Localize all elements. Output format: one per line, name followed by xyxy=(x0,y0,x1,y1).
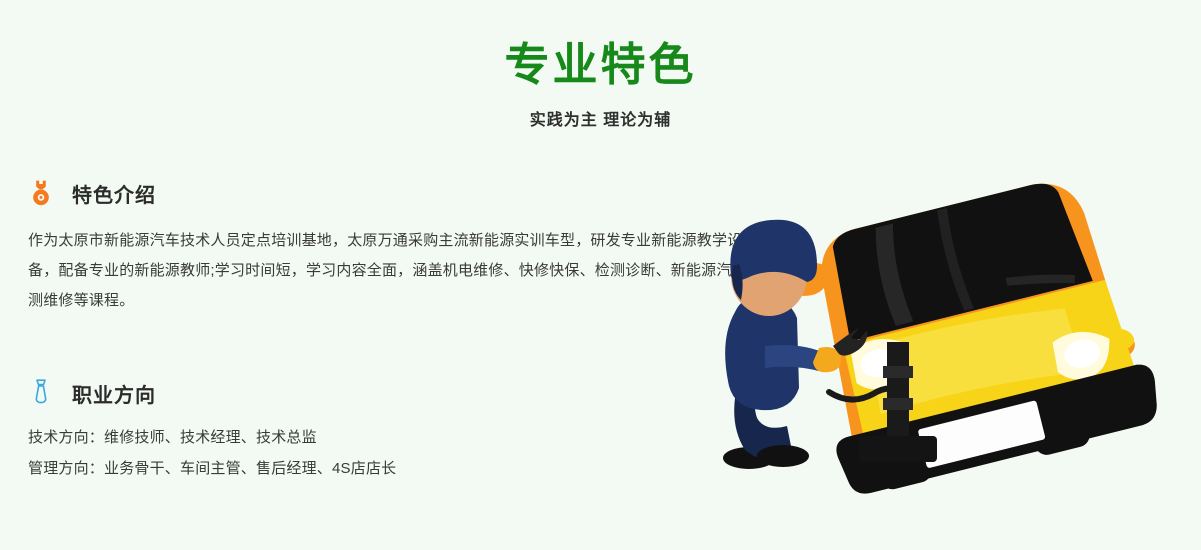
mechanic-repairing-car-illustration xyxy=(721,160,1201,500)
feature-intro-paragraph: 作为太原市新能源汽车技术人员定点培训基地，太原万通采购主流新能源实训车型，研发专… xyxy=(28,226,768,316)
career-line-technical: 技术方向：维修技师、技术经理、技术总监 xyxy=(28,422,768,453)
content-column: 特色介绍 作为太原市新能源汽车技术人员定点培训基地，太原万通采购主流新能源实训车… xyxy=(28,178,768,484)
section-feature-intro-title: 特色介绍 xyxy=(72,179,156,208)
medal-icon xyxy=(28,178,54,208)
mechanic-shoe-front xyxy=(757,445,809,467)
necktie-icon xyxy=(28,378,54,408)
page-root: 专业特色 实践为主 理论为辅 特色介绍 作为太原市新能源汽车技术人员定点培训基地… xyxy=(0,0,1201,550)
section-feature-intro-header: 特色介绍 xyxy=(28,178,768,208)
section-feature-intro-body: 作为太原市新能源汽车技术人员定点培训基地，太原万通采购主流新能源实训车型，研发专… xyxy=(28,226,768,316)
section-career-direction: 职业方向 技术方向：维修技师、技术经理、技术总监 管理方向：业务骨干、车间主管、… xyxy=(28,378,768,484)
page-title: 专业特色 xyxy=(0,38,1201,92)
illustration-svg xyxy=(721,160,1201,500)
career-direction-list: 技术方向：维修技师、技术经理、技术总监 管理方向：业务骨干、车间主管、售后经理、… xyxy=(28,422,768,484)
section-career-direction-header: 职业方向 xyxy=(28,378,768,408)
page-subtitle: 实践为主 理论为辅 xyxy=(0,110,1201,132)
section-career-direction-title: 职业方向 xyxy=(72,379,156,408)
page-header: 专业特色 实践为主 理论为辅 xyxy=(0,38,1201,132)
section-feature-intro: 特色介绍 作为太原市新能源汽车技术人员定点培训基地，太原万通采购主流新能源实训车… xyxy=(28,178,768,316)
car-group xyxy=(776,167,1167,500)
career-line-management: 管理方向：业务骨干、车间主管、售后经理、4S店店长 xyxy=(28,453,768,484)
